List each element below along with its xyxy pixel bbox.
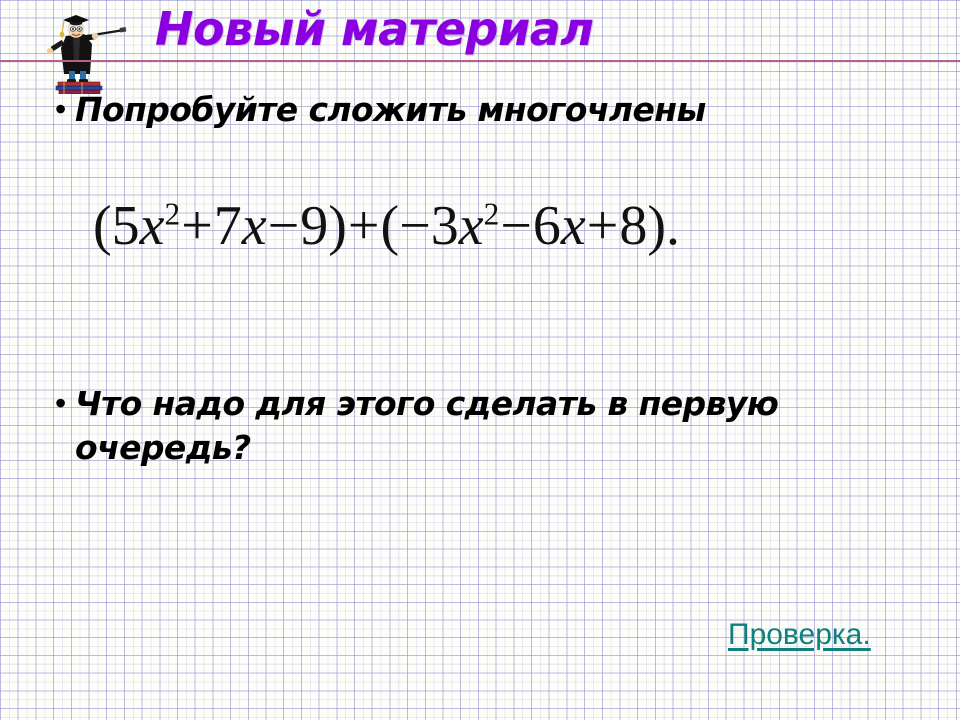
bullet-marker-icon: • [55,88,75,130]
exponent-2-second: 2 [484,196,500,231]
bullet-text-1: Попробуйте сложить многочлены [75,88,706,132]
title-divider [0,60,960,62]
constant-8: 8 [619,195,647,257]
constant-9: 9 [300,195,328,257]
paren-close-2: ) [647,195,666,257]
operator-plus-1: + [180,195,214,257]
operator-plus-2: + [347,195,381,257]
exponent-2-first: 2 [165,196,181,231]
paren-open-1: ( [93,195,112,257]
coefficient-5: 5 [112,195,140,257]
paren-open-2: ( [381,195,400,257]
coefficient-6: 6 [533,195,561,257]
bullet-item-2: • Что надо для этого сделать в первую оч… [55,382,815,470]
operator-minus-2: − [499,195,533,257]
period-mark: . [666,195,680,257]
math-expression: (5x2+7x−9)+(−3x2−6x+8). [93,198,680,254]
paren-close-1: ) [328,195,347,257]
slide-canvas: Новый материал • Попробуйте сложить мног… [0,0,960,720]
coefficient-3: 3 [431,195,459,257]
variable-x-3: x [459,195,484,257]
sign-minus-2: − [399,195,431,257]
variable-x-1: x [140,195,165,257]
bullet-text-2: Что надо для этого сделать в первую очер… [75,382,815,470]
variable-x-4: x [561,195,586,257]
operator-minus-1: − [267,195,301,257]
operator-plus-3: + [586,195,620,257]
variable-x-2: x [242,195,267,257]
check-answer-link[interactable]: Проверка. [728,618,871,652]
coefficient-7: 7 [214,195,242,257]
bullet-marker-icon-2: • [55,382,75,424]
professor-clipart [30,8,130,94]
page-title: Новый материал [155,2,593,56]
bullet-item-1: • Попробуйте сложить многочлены [55,88,935,132]
